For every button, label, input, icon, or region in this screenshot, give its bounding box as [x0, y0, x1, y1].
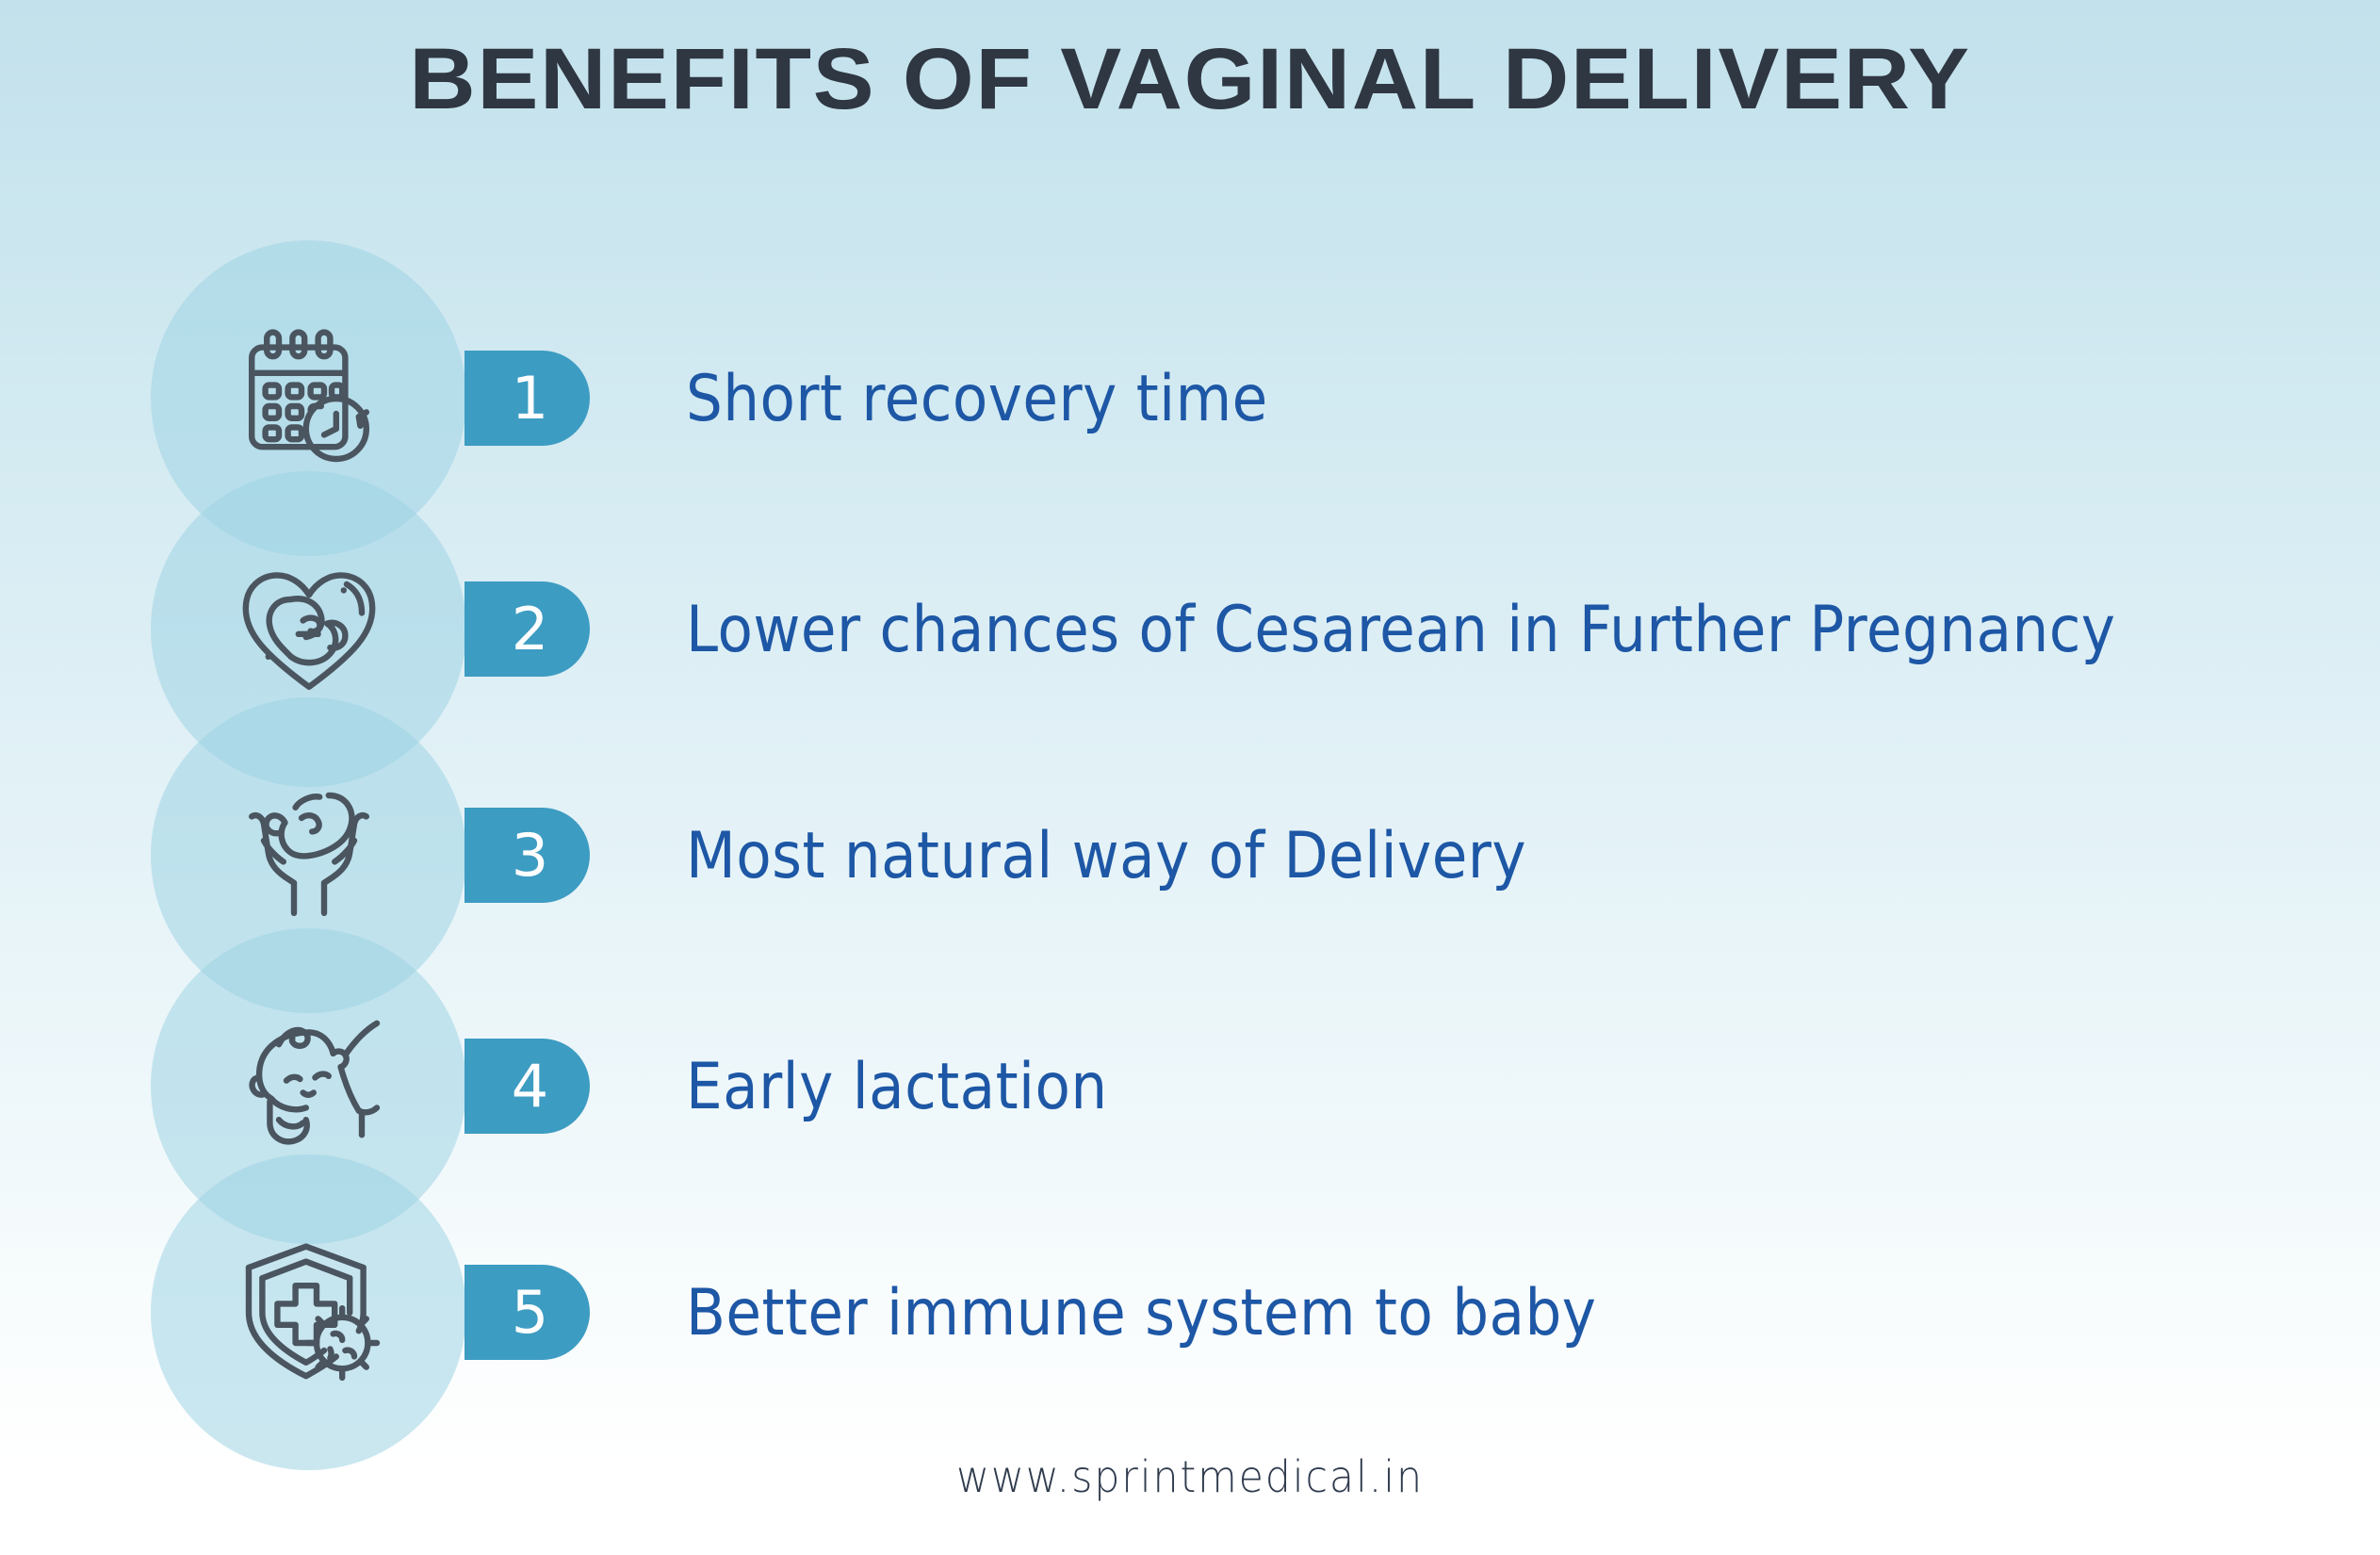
- badge-number: 2: [465, 581, 590, 677]
- shield-cross-virus-icon: [151, 1154, 466, 1470]
- benefit-label: Short recovery time: [686, 352, 1268, 447]
- infographic-canvas: BENEFITS OF VAGINAL DELIVERY: [0, 0, 2380, 1555]
- list-item: 5 Better immune system to baby: [0, 1154, 2380, 1465]
- badge-number: 3: [465, 808, 590, 903]
- badge-number: 5: [465, 1265, 590, 1360]
- benefits-list: 1 Short recovery time 2: [0, 0, 2380, 1555]
- benefit-label: Early lactation: [686, 1039, 1108, 1135]
- benefit-label: Better immune system to baby: [686, 1266, 1596, 1361]
- badge-number: 4: [465, 1039, 590, 1134]
- badge-number: 1: [465, 351, 590, 446]
- benefit-label: Most natural way of Delivery: [686, 809, 1526, 904]
- website-url: www.sprintmedical.in: [83, 1451, 2296, 1502]
- benefit-label: Lower chances of Cesarean in Further Pre…: [686, 582, 2115, 678]
